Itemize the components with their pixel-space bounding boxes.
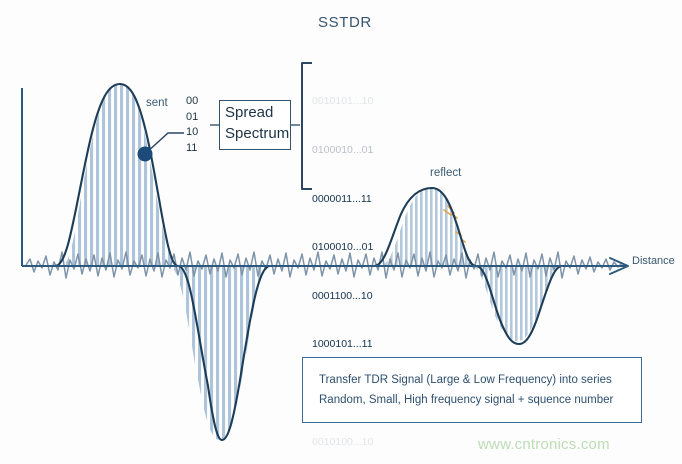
code-matrix-row: 0100010...01 (312, 239, 373, 255)
bit-code-item: 10 (186, 125, 198, 141)
watermark: www.cntronics.com (478, 436, 610, 453)
sent-marker-dot (138, 147, 153, 162)
code-matrix-row: 0000011...11 (312, 191, 373, 207)
bit-code-list: 00 01 10 11 (186, 94, 198, 156)
distance-axis-label: Distance (632, 255, 675, 267)
explanation-box: Transfer TDR Signal (Large & Low Frequen… (302, 357, 642, 423)
code-matrix-row: 0010100...10 (312, 434, 373, 450)
bit-code-item: 01 (186, 110, 198, 126)
reflect-annotation: reflect (430, 167, 461, 179)
page-title: SSTDR (318, 14, 372, 31)
explanation-line-2: Random, Small, High frequency signal + s… (319, 394, 613, 406)
code-matrix-row: 1000101...11 (312, 336, 373, 352)
sent-callout-leader (146, 133, 184, 153)
spread-spectrum-box: Spread Spectrum (219, 100, 291, 150)
code-matrix-row: 0010101...10 (312, 93, 373, 109)
bit-code-item: 11 (186, 141, 198, 157)
explanation-line-1: Transfer TDR Signal (Large & Low Frequen… (319, 374, 612, 386)
sent-pulse-negative-fill (160, 260, 280, 450)
code-matrix-row: 0001100...10 (312, 288, 373, 304)
matrix-bracket (302, 63, 312, 189)
sstdr-diagram: SSTDR sent reflect Distance 00 01 10 11 … (0, 0, 682, 464)
code-matrix-row: 0100010...01 (312, 142, 373, 158)
spread-spectrum-line-1: Spread (225, 104, 273, 121)
spread-spectrum-line-2: Spectrum (225, 125, 289, 142)
bit-code-item: 00 (186, 94, 198, 110)
sent-pulse-positive-fill (55, 70, 190, 270)
sent-annotation: sent (146, 97, 168, 109)
